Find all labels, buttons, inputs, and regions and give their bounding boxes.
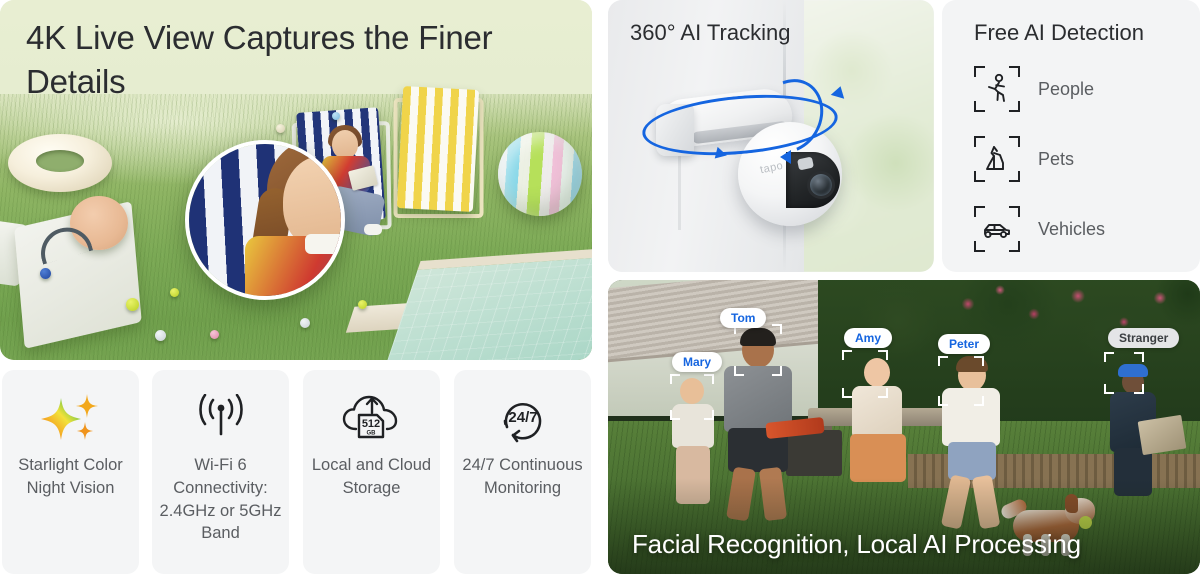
person-walking-icon <box>974 66 1020 112</box>
face-tag-stranger: Stranger <box>1108 328 1179 348</box>
ai-tracking-title: 360° AI Tracking <box>630 20 790 46</box>
lawn-ball <box>210 330 219 339</box>
feature-card-text: Local and Cloud Storage <box>303 454 440 500</box>
camera-lens <box>810 174 832 196</box>
car-icon <box>974 206 1020 252</box>
facial-recognition-caption: Facial Recognition, Local AI Processing <box>632 529 1081 560</box>
child-shoe <box>364 224 382 235</box>
detection-item-pets: Pets <box>974 136 1105 182</box>
ai-detection-panel: Free AI Detection People <box>942 0 1200 272</box>
svg-text:GB: GB <box>366 431 376 437</box>
zoom-child-collar <box>305 234 345 254</box>
camera-cable <box>678 152 681 230</box>
cloud-sdcard-icon: 512 GB <box>339 390 405 448</box>
zoom-detail-callout <box>185 140 345 300</box>
detection-label: Pets <box>1038 149 1074 170</box>
ai-detection-list: People Pets <box>974 66 1105 252</box>
dog-icon <box>974 136 1020 182</box>
svg-text:24/7: 24/7 <box>508 409 537 426</box>
deck-chair-seat <box>397 86 479 212</box>
face-box-peter <box>938 356 984 406</box>
detection-label: People <box>1038 79 1094 100</box>
infographic-canvas: 4K Live View Captures the Finer Details … <box>0 0 1200 574</box>
feature-card-text: Starlight Color Night Vision <box>2 454 139 500</box>
feature-card-starlight: Starlight Color Night Vision <box>2 370 139 574</box>
svg-text:512: 512 <box>361 418 379 430</box>
beach-ball <box>498 132 582 216</box>
parcel-box <box>1138 415 1187 455</box>
face-tag-peter: Peter <box>938 334 990 354</box>
hero-4k-live-view-panel: 4K Live View Captures the Finer Details <box>0 0 592 360</box>
face-tag-tom: Tom <box>720 308 766 328</box>
feature-card-storage: 512 GB Local and Cloud Storage <box>303 370 440 574</box>
pool-float-ring <box>8 134 112 192</box>
wifi-antenna-icon <box>189 390 253 448</box>
face-tag-mary: Mary <box>672 352 722 372</box>
person-skirt <box>850 434 906 482</box>
facial-recognition-panel: Tom Mary Amy Peter Stranger Facial Recog… <box>608 280 1200 574</box>
feature-card-monitoring: 24/7 24/7 Continuous Monitoring <box>454 370 591 574</box>
hero-headline: 4K Live View Captures the Finer Details <box>26 16 546 103</box>
deck-chair-yellow <box>397 86 479 212</box>
zoom-callout-content <box>185 140 345 300</box>
face-box-amy <box>842 350 888 398</box>
feature-card-text: 24/7 Continuous Monitoring <box>454 454 591 500</box>
lawn-ball <box>155 330 166 341</box>
face-tag-amy: Amy <box>844 328 892 348</box>
sparkle-star-icon <box>41 390 101 448</box>
face-box-tom <box>734 324 782 376</box>
lawn-ball <box>358 300 367 309</box>
detection-item-people: People <box>974 66 1105 112</box>
247-circular-arrow-icon: 24/7 <box>495 390 551 448</box>
lawn-ball <box>276 124 285 133</box>
lawn-ball <box>126 298 139 311</box>
feature-card-wifi6: Wi-Fi 6 Connectivity: 2.4GHz or 5GHz Ban… <box>152 370 289 574</box>
ai-tracking-panel: tapo 360° AI Tracking <box>608 0 934 272</box>
ai-detection-title: Free AI Detection <box>974 20 1144 46</box>
rotation-arrow-left <box>780 150 791 164</box>
face-box-stranger <box>1104 352 1144 394</box>
lawn-ball <box>332 112 340 120</box>
feature-card-text: Wi-Fi 6 Connectivity: 2.4GHz or 5GHz Ban… <box>152 454 289 545</box>
lawn-ball <box>170 288 179 297</box>
detection-item-vehicles: Vehicles <box>974 206 1105 252</box>
lawn-ball <box>300 318 310 328</box>
detection-label: Vehicles <box>1038 219 1105 240</box>
lawn-ball <box>40 268 51 279</box>
face-box-mary <box>670 374 714 420</box>
